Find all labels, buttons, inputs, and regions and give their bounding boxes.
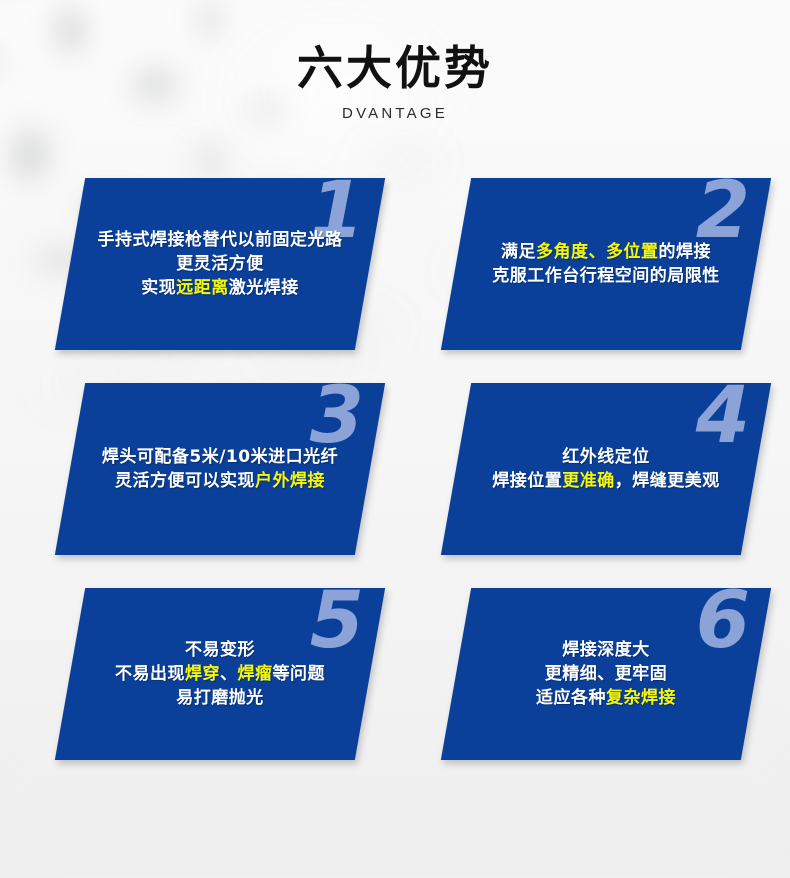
card-slot-6: 6 焊接深度大更精细、更牢固适应各种复杂焊接 (456, 588, 756, 760)
page-subtitle: DVANTAGE (0, 105, 790, 122)
card-text-line: 红外线定位 (468, 449, 744, 466)
poster-header: 六大优势 DVANTAGE (0, 44, 790, 122)
body-text: 易打磨抛光 (176, 688, 264, 708)
advantage-card[interactable]: 4 红外线定位焊接位置更准确，焊缝更美观 (441, 383, 771, 555)
highlight-text: 多角度、多位置 (536, 242, 659, 262)
card-text-line: 实现远距离激光焊接 (82, 280, 358, 297)
card-text-line: 灵活方便可以实现户外焊接 (82, 473, 358, 490)
card-slot-3: 3 焊头可配备5米/10米进口光纤灵活方便可以实现户外焊接 (70, 383, 370, 555)
body-text: 更灵活方便 (176, 254, 264, 274)
card-row-1: 1 手持式焊接枪替代以前固定光路更灵活方便实现远距离激光焊接 2 满足多角度、多… (0, 178, 790, 383)
card-text-line: 手持式焊接枪替代以前固定光路 (82, 232, 358, 249)
body-text: 克服工作台行程空间的局限性 (492, 266, 720, 286)
card-row-2: 3 焊头可配备5米/10米进口光纤灵活方便可以实现户外焊接 4 红外线定位焊接位… (0, 383, 790, 588)
body-text: 激光焊接 (229, 278, 299, 298)
card-slot-4: 4 红外线定位焊接位置更准确，焊缝更美观 (456, 383, 756, 555)
card-text-line: 更精细、更牢固 (468, 666, 744, 683)
body-text: 等问题 (273, 664, 326, 684)
body-text: 焊头可配备5米/10米进口光纤 (102, 447, 338, 467)
body-text: 适应各种 (536, 688, 606, 708)
advantage-card-grid: 1 手持式焊接枪替代以前固定光路更灵活方便实现远距离激光焊接 2 满足多角度、多… (0, 178, 790, 793)
highlight-text: 户外焊接 (255, 471, 325, 491)
advantage-card[interactable]: 2 满足多角度、多位置的焊接克服工作台行程空间的局限性 (441, 178, 771, 350)
card-slot-1: 1 手持式焊接枪替代以前固定光路更灵活方便实现远距离激光焊接 (70, 178, 370, 350)
card-text-line: 焊头可配备5米/10米进口光纤 (82, 449, 358, 466)
card-row-3: 5 不易变形不易出现焊穿、焊瘤等问题易打磨抛光 6 焊接深度大更精细、更牢固适应… (0, 588, 790, 793)
card-text-line: 满足多角度、多位置的焊接 (468, 244, 744, 261)
highlight-text: 焊穿 (185, 664, 220, 684)
card-text-lines: 焊接深度大更精细、更牢固适应各种复杂焊接 (456, 635, 756, 714)
card-text-line: 更灵活方便 (82, 256, 358, 273)
highlight-text: 复杂焊接 (606, 688, 676, 708)
card-text-line: 克服工作台行程空间的局限性 (468, 268, 744, 285)
body-text: 手持式焊接枪替代以前固定光路 (98, 230, 343, 250)
advantage-card[interactable]: 6 焊接深度大更精细、更牢固适应各种复杂焊接 (441, 588, 771, 760)
highlight-text: 更准确 (562, 471, 615, 491)
card-slot-5: 5 不易变形不易出现焊穿、焊瘤等问题易打磨抛光 (70, 588, 370, 760)
advantage-card[interactable]: 1 手持式焊接枪替代以前固定光路更灵活方便实现远距离激光焊接 (55, 178, 385, 350)
card-text-lines: 焊头可配备5米/10米进口光纤灵活方便可以实现户外焊接 (70, 442, 370, 497)
body-text: 的焊接 (659, 242, 712, 262)
body-text: 焊接位置 (492, 471, 562, 491)
body-text: 不易出现 (115, 664, 185, 684)
page-title: 六大优势 (0, 44, 790, 94)
card-slot-2: 2 满足多角度、多位置的焊接克服工作台行程空间的局限性 (456, 178, 756, 350)
card-text-lines: 不易变形不易出现焊穿、焊瘤等问题易打磨抛光 (70, 635, 370, 714)
body-text: 红外线定位 (562, 447, 650, 467)
highlight-text: 焊瘤 (238, 664, 273, 684)
body-text: 焊接深度大 (562, 640, 650, 660)
card-text-lines: 手持式焊接枪替代以前固定光路更灵活方便实现远距离激光焊接 (70, 225, 370, 304)
body-text: 灵活方便可以实现 (115, 471, 255, 491)
card-text-line: 不易出现焊穿、焊瘤等问题 (82, 666, 358, 683)
body-text: 不易变形 (185, 640, 255, 660)
card-text-line: 不易变形 (82, 642, 358, 659)
highlight-text: 远距离 (176, 278, 229, 298)
card-text-line: 焊接位置更准确，焊缝更美观 (468, 473, 744, 490)
card-text-line: 易打磨抛光 (82, 690, 358, 707)
body-text: ，焊缝更美观 (615, 471, 720, 491)
body-text: 实现 (141, 278, 176, 298)
body-text: 、 (220, 664, 238, 684)
card-text-line: 焊接深度大 (468, 642, 744, 659)
card-text-line: 适应各种复杂焊接 (468, 690, 744, 707)
card-text-lines: 红外线定位焊接位置更准确，焊缝更美观 (456, 442, 756, 497)
advantages-poster: 六大优势 DVANTAGE 1 手持式焊接枪替代以前固定光路更灵活方便实现远距离… (0, 0, 790, 878)
card-text-lines: 满足多角度、多位置的焊接克服工作台行程空间的局限性 (456, 237, 756, 292)
advantage-card[interactable]: 5 不易变形不易出现焊穿、焊瘤等问题易打磨抛光 (55, 588, 385, 760)
advantage-card[interactable]: 3 焊头可配备5米/10米进口光纤灵活方便可以实现户外焊接 (55, 383, 385, 555)
body-text: 满足 (501, 242, 536, 262)
body-text: 更精细、更牢固 (545, 664, 668, 684)
